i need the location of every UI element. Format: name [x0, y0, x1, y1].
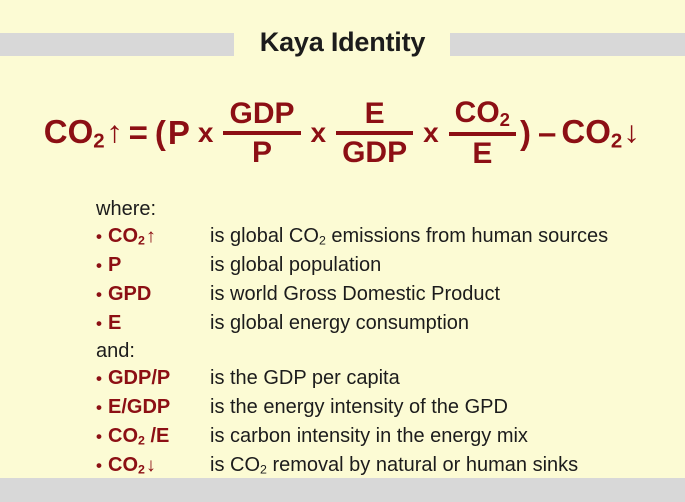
where-label: where: — [96, 196, 685, 222]
bullet-icon: • — [96, 364, 108, 393]
formula-close-paren: ) — [518, 114, 533, 152]
fraction-gdp-per-capita: GDP P — [223, 98, 300, 168]
definition-description-post: removal by natural or human sinks — [267, 454, 578, 476]
definition-term: GDP/P — [108, 364, 210, 393]
fraction-denominator: P — [223, 136, 300, 168]
definition-row-gpd: • GPD is world Gross Domestic Product — [96, 280, 685, 309]
fraction-numerator: CO2 — [449, 97, 516, 130]
down-arrow-icon: ↓ — [144, 456, 156, 475]
bullet-icon: • — [96, 280, 108, 309]
definition-description: is the GDP per capita — [210, 364, 685, 393]
formula-rhs-text: CO — [561, 113, 611, 150]
definition-term: E/GDP — [108, 393, 210, 422]
bullet-icon: • — [96, 451, 108, 480]
definition-row-co2-per-e: • CO2 /E is carbon intensity in the ener… — [96, 422, 685, 451]
bullet-icon: • — [96, 309, 108, 338]
definition-description: is global population — [210, 251, 685, 280]
definition-row-e-per-gdp: • E/GDP is the energy intensity of the G… — [96, 393, 685, 422]
fraction-denominator: E — [449, 137, 516, 169]
definition-description-subscript: 2 — [260, 463, 267, 477]
fraction-bar — [223, 131, 300, 135]
fraction-bar — [336, 131, 413, 135]
fraction-energy-intensity: E GDP — [336, 98, 413, 168]
fraction-numerator: E — [336, 98, 413, 130]
definition-term-main: CO — [108, 225, 138, 247]
formula-lhs-text: CO — [44, 113, 94, 150]
formula-open-paren: ( — [153, 114, 168, 152]
definition-description: is carbon intensity in the energy mix — [210, 422, 685, 451]
kaya-identity-formula: CO2 ↑ = ( P x GDP P x E GDP x CO2 E ) – … — [0, 92, 685, 174]
definitions-block: where: • CO2↑ is global CO2 emissions fr… — [96, 196, 685, 480]
definition-description-subscript: 2 — [319, 234, 326, 248]
formula-equals: = — [124, 114, 153, 152]
and-label: and: — [96, 338, 685, 364]
definition-term-main: CO — [108, 454, 138, 476]
definition-description: is world Gross Domestic Product — [210, 280, 685, 309]
bullet-icon: • — [96, 251, 108, 280]
definition-row-p: • P is global population — [96, 251, 685, 280]
bullet-icon: • — [96, 422, 108, 451]
definition-term-suffix: /E — [145, 425, 169, 447]
fraction-carbon-intensity: CO2 E — [449, 97, 516, 169]
up-arrow-icon: ↑ — [103, 118, 125, 148]
fraction-numerator: GDP — [223, 98, 300, 130]
down-arrow-icon: ↓ — [621, 118, 643, 148]
definition-description: is the energy intensity of the GPD — [210, 393, 685, 422]
definition-term-subscript: 2 — [138, 434, 145, 448]
definition-description-post: emissions from human sources — [326, 225, 608, 247]
definition-description: is global energy consumption — [210, 309, 685, 338]
definition-term-main: CO — [108, 425, 138, 447]
fraction-numerator-text: CO — [455, 96, 500, 129]
formula-times-2: x — [303, 117, 335, 149]
definition-term: P — [108, 251, 210, 280]
up-arrow-icon: ↑ — [144, 227, 156, 246]
definition-row-gdp-per-p: • GDP/P is the GDP per capita — [96, 364, 685, 393]
formula-factor-population: P — [168, 114, 190, 152]
bullet-icon: • — [96, 222, 108, 251]
formula-rhs: CO2 — [561, 113, 622, 154]
bullet-icon: • — [96, 393, 108, 422]
definition-term: GPD — [108, 280, 210, 309]
fraction-denominator: GDP — [336, 136, 413, 168]
page-title: Kaya Identity — [0, 27, 685, 58]
title-band: Kaya Identity — [0, 30, 685, 60]
bottom-band — [0, 478, 685, 502]
definition-description-pre: is CO — [210, 454, 260, 476]
definition-description-pre: is global CO — [210, 225, 319, 247]
fraction-bar — [449, 132, 516, 136]
definition-row-co2-down: • CO2↓ is CO2 removal by natural or huma… — [96, 451, 685, 480]
formula-times-3: x — [415, 117, 447, 149]
definition-row-co2-up: • CO2↑ is global CO2 emissions from huma… — [96, 222, 685, 251]
formula-times-1: x — [190, 117, 222, 149]
page-title-text: Kaya Identity — [250, 27, 435, 57]
definition-row-e: • E is global energy consumption — [96, 309, 685, 338]
formula-minus: – — [533, 114, 561, 152]
definition-term: E — [108, 309, 210, 338]
formula-lhs: CO2 — [44, 113, 105, 154]
fraction-numerator-subscript: 2 — [500, 109, 510, 130]
